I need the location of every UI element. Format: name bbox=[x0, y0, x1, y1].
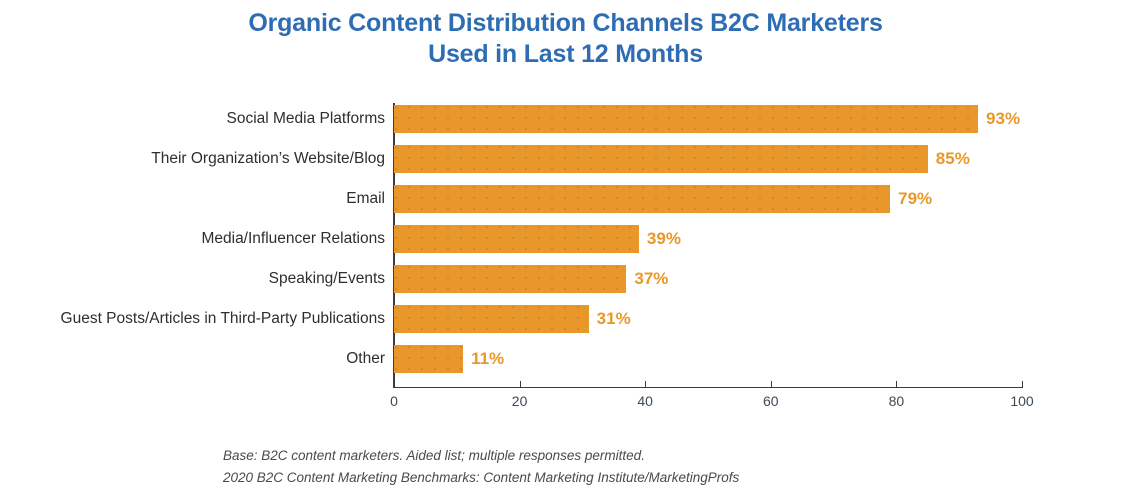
x-axis-tick-label: 100 bbox=[1010, 393, 1033, 409]
x-axis-tick-label: 0 bbox=[390, 393, 398, 409]
category-label: Guest Posts/Articles in Third-Party Publ… bbox=[61, 305, 385, 333]
footnote-line: 2020 B2C Content Marketing Benchmarks: C… bbox=[223, 467, 739, 489]
bar-value-label: 37% bbox=[634, 265, 668, 293]
bar bbox=[394, 225, 639, 253]
bar bbox=[394, 265, 626, 293]
bar-value-label: 31% bbox=[597, 305, 631, 333]
x-axis-tick bbox=[771, 381, 772, 387]
category-label: Social Media Platforms bbox=[226, 105, 385, 133]
category-label: Other bbox=[346, 345, 385, 373]
x-axis-tick-label: 60 bbox=[763, 393, 779, 409]
chart-footnotes: Base: B2C content marketers. Aided list;… bbox=[223, 445, 739, 489]
bar-value-label: 11% bbox=[471, 345, 504, 373]
bar-value-label: 79% bbox=[898, 185, 932, 213]
chart-title: Organic Content Distribution Channels B2… bbox=[0, 8, 1131, 70]
x-axis-tick bbox=[896, 381, 897, 387]
bar bbox=[394, 345, 463, 373]
x-axis-tick-label: 40 bbox=[637, 393, 653, 409]
plot-area: 93%85%79%39%37%31%11% bbox=[394, 103, 1022, 388]
chart-page: Organic Content Distribution Channels B2… bbox=[0, 0, 1131, 495]
bar bbox=[394, 145, 928, 173]
bar bbox=[394, 105, 978, 133]
footnote-line: Base: B2C content marketers. Aided list;… bbox=[223, 445, 739, 467]
bar-value-label: 39% bbox=[647, 225, 681, 253]
category-label: Email bbox=[346, 185, 385, 213]
category-axis-labels: Social Media PlatformsTheir Organization… bbox=[0, 103, 385, 388]
category-label: Their Organization’s Website/Blog bbox=[151, 145, 385, 173]
x-axis-tick-label: 80 bbox=[889, 393, 905, 409]
x-axis-tick-label: 20 bbox=[512, 393, 528, 409]
bar bbox=[394, 305, 589, 333]
x-axis-tick bbox=[1022, 381, 1023, 387]
bar bbox=[394, 185, 890, 213]
x-axis-tick bbox=[520, 381, 521, 387]
category-label: Speaking/Events bbox=[269, 265, 385, 293]
chart-title-line-2: Used in Last 12 Months bbox=[0, 39, 1131, 70]
bar-value-label: 93% bbox=[986, 105, 1020, 133]
x-axis-tick bbox=[645, 381, 646, 387]
category-label: Media/Influencer Relations bbox=[201, 225, 385, 253]
bar-value-label: 85% bbox=[936, 145, 970, 173]
chart-title-line-1: Organic Content Distribution Channels B2… bbox=[0, 8, 1131, 39]
